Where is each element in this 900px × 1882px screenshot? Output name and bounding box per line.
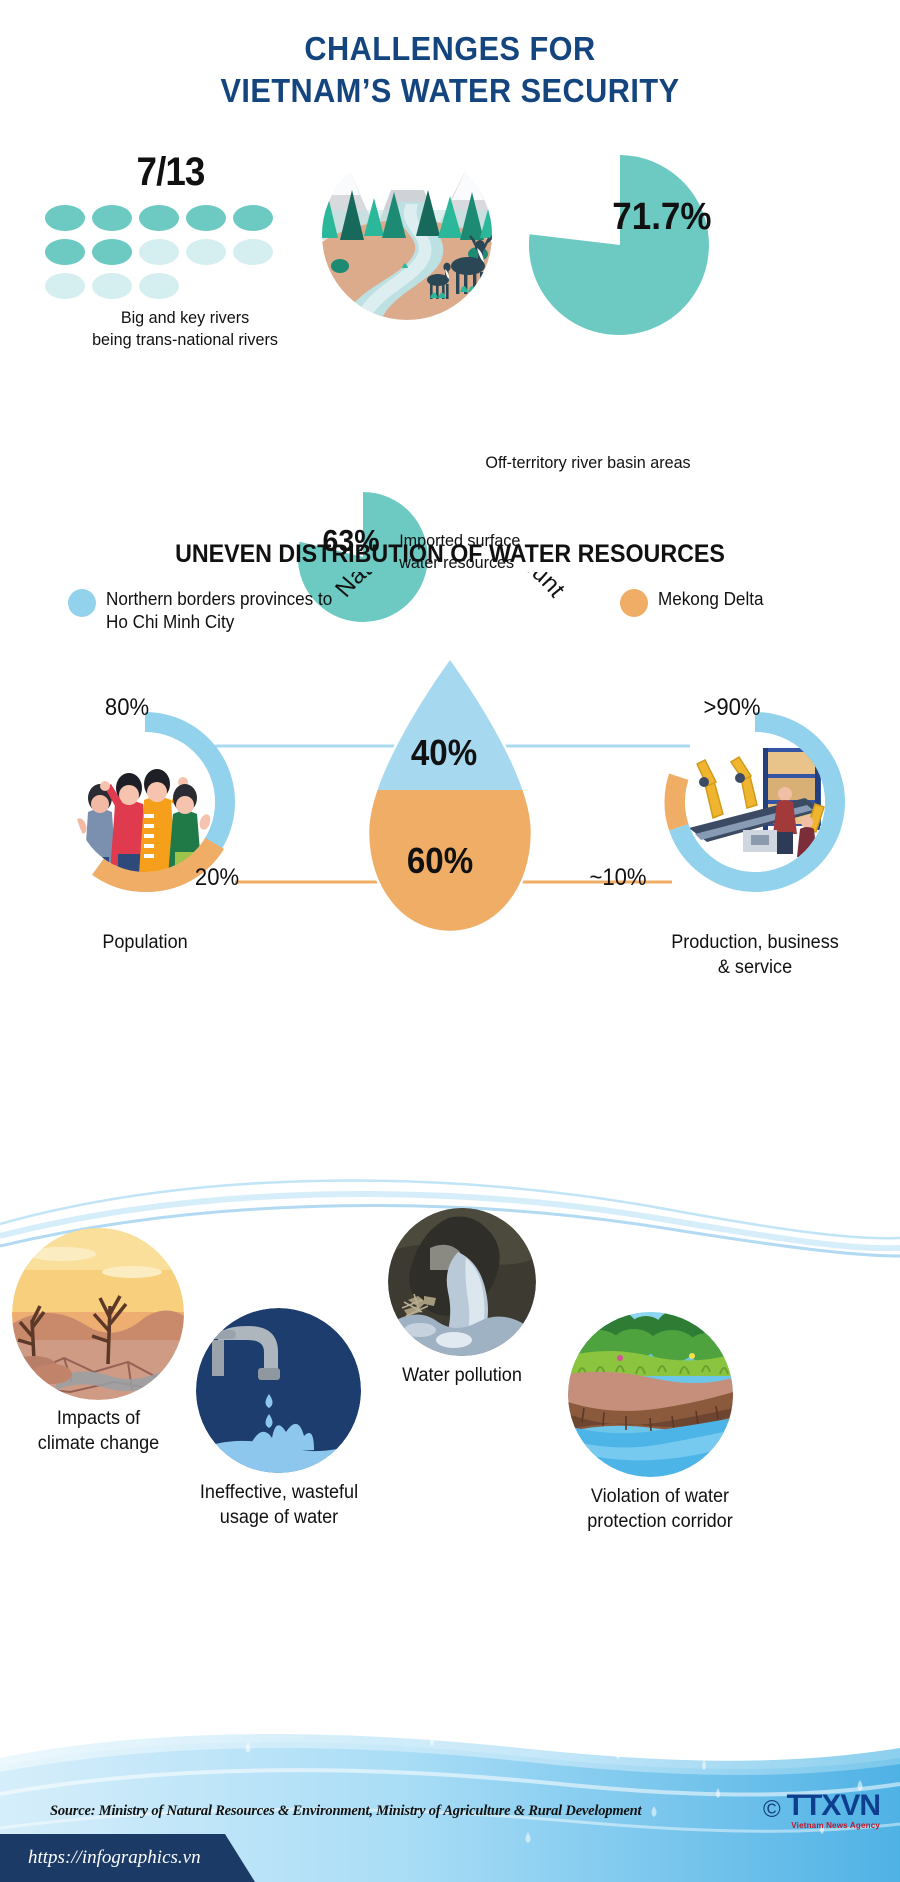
drop-arc-label: National water amount	[300, 572, 600, 692]
issue-caption-protection-corridor: Violation of water protection corridor	[565, 1484, 755, 1534]
ratio-caption: Big and key rivers being trans-national …	[52, 307, 318, 351]
issue-caption-climate-change: Impacts of climate change	[11, 1406, 187, 1456]
ratio-caption-line-1: Big and key rivers	[52, 307, 318, 329]
issue-caption-line-1: Ineffective, wasteful	[179, 1480, 379, 1505]
production-bottom-value: ~10%	[589, 864, 646, 892]
production-caption-line-1: Production, business	[646, 930, 865, 955]
drop-bottom-value: 60%	[407, 840, 473, 882]
dot-filled	[45, 239, 85, 265]
issue-caption-line-1: Violation of water	[565, 1484, 755, 1509]
issue-item-protection-corridor: Violation of water protection corridor	[568, 1312, 733, 1477]
dot-filled	[139, 205, 179, 231]
title-line-1: CHALLENGES FOR	[32, 28, 869, 70]
factory-robot-photo-icon	[685, 732, 825, 872]
section-issues: Impacts of climate change	[0, 1160, 900, 1720]
pie-off-territory-caption: Off-territory river basin areas	[485, 452, 690, 474]
population-top-value: 80%	[105, 694, 149, 722]
url-text: https://infographics.vn	[0, 1847, 201, 1869]
dot-empty	[233, 239, 273, 265]
dot-filled	[92, 205, 132, 231]
issue-item-climate-change: Impacts of climate change	[12, 1228, 184, 1400]
dot-filled	[45, 205, 85, 231]
ratio-caption-line-2: being trans-national rivers	[52, 329, 318, 351]
dot-row	[45, 273, 295, 299]
issue-caption-line-1: Impacts of	[11, 1406, 187, 1431]
dot-grid	[45, 205, 295, 299]
ratio-value: 7/13	[72, 150, 270, 195]
infographic-page: CHALLENGES FOR VIETNAM’S WATER SECURITY …	[0, 0, 900, 1882]
mountain-river-forest-scene-icon	[282, 140, 532, 320]
production-top-value: >90%	[703, 694, 760, 722]
drop-top-value: 40%	[411, 732, 477, 774]
dot-empty	[139, 273, 179, 299]
production-caption-line-2: & service	[646, 955, 865, 980]
svg-text:National water amount: National water amount	[330, 572, 570, 603]
agency-name: TTXVN	[787, 1789, 880, 1822]
title-line-2: VIETNAM’S WATER SECURITY	[32, 70, 869, 112]
issue-caption-line-2: climate change	[11, 1431, 187, 1456]
issue-item-water-pollution: Water pollution	[388, 1208, 536, 1356]
url-plate[interactable]: https://infographics.vn	[0, 1834, 255, 1882]
issue-item-wasteful-usage: Ineffective, wasteful usage of water	[196, 1308, 361, 1473]
riverbank-erosion-photo-icon	[568, 1312, 733, 1477]
page-title: CHALLENGES FOR VIETNAM’S WATER SECURITY	[0, 28, 900, 112]
issue-caption-line-1: Water pollution	[369, 1363, 555, 1388]
issue-caption-wasteful-usage: Ineffective, wasteful usage of water	[179, 1480, 379, 1530]
section-rivers: 7/13	[0, 140, 900, 520]
population-caption: Population	[50, 930, 240, 955]
dot-row	[45, 239, 295, 265]
section-uneven-distribution: UNEVEN DISTRIBUTION OF WATER RESOURCES N…	[0, 530, 900, 1160]
footer: Source: Ministry of Natural Resources & …	[0, 1732, 900, 1882]
dot-empty	[92, 273, 132, 299]
source-text: Source: Ministry of Natural Resources & …	[50, 1803, 641, 1820]
copyright-icon: ©	[763, 1796, 781, 1824]
polluted-waterfall-photo-icon	[388, 1208, 536, 1356]
population-bottom-value: 20%	[195, 864, 239, 892]
pie-off-territory-value: 71.7%	[612, 196, 711, 239]
issue-caption-line-2: usage of water	[179, 1505, 379, 1530]
dot-filled	[92, 239, 132, 265]
ratio-block: 7/13	[45, 150, 315, 351]
national-water-drop: National water amount 40% 60%	[340, 650, 560, 955]
dot-filled	[233, 205, 273, 231]
ttxvn-logo-block: © TTXVN Vietnam News Agency	[763, 1789, 880, 1830]
issue-caption-line-2: protection corridor	[565, 1509, 755, 1534]
population-caption-line-1: Population	[50, 930, 240, 955]
dripping-faucet-photo-icon	[196, 1308, 361, 1473]
drought-cracked-earth-photo-icon	[12, 1228, 184, 1400]
ttxvn-logo: TTXVN Vietnam News Agency	[787, 1789, 880, 1830]
production-caption: Production, business & service	[646, 930, 865, 980]
dot-empty	[186, 239, 226, 265]
agency-subtitle: Vietnam News Agency	[787, 1821, 880, 1830]
issue-caption-water-pollution: Water pollution	[369, 1363, 555, 1388]
dot-empty	[45, 273, 85, 299]
pie-off-territory: 71.7%	[520, 148, 720, 348]
production-donut: >90% ~10%	[655, 702, 855, 907]
dot-filled	[186, 205, 226, 231]
dot-empty	[139, 239, 179, 265]
population-donut: 80% 20%	[45, 702, 245, 907]
dot-row	[45, 205, 295, 231]
